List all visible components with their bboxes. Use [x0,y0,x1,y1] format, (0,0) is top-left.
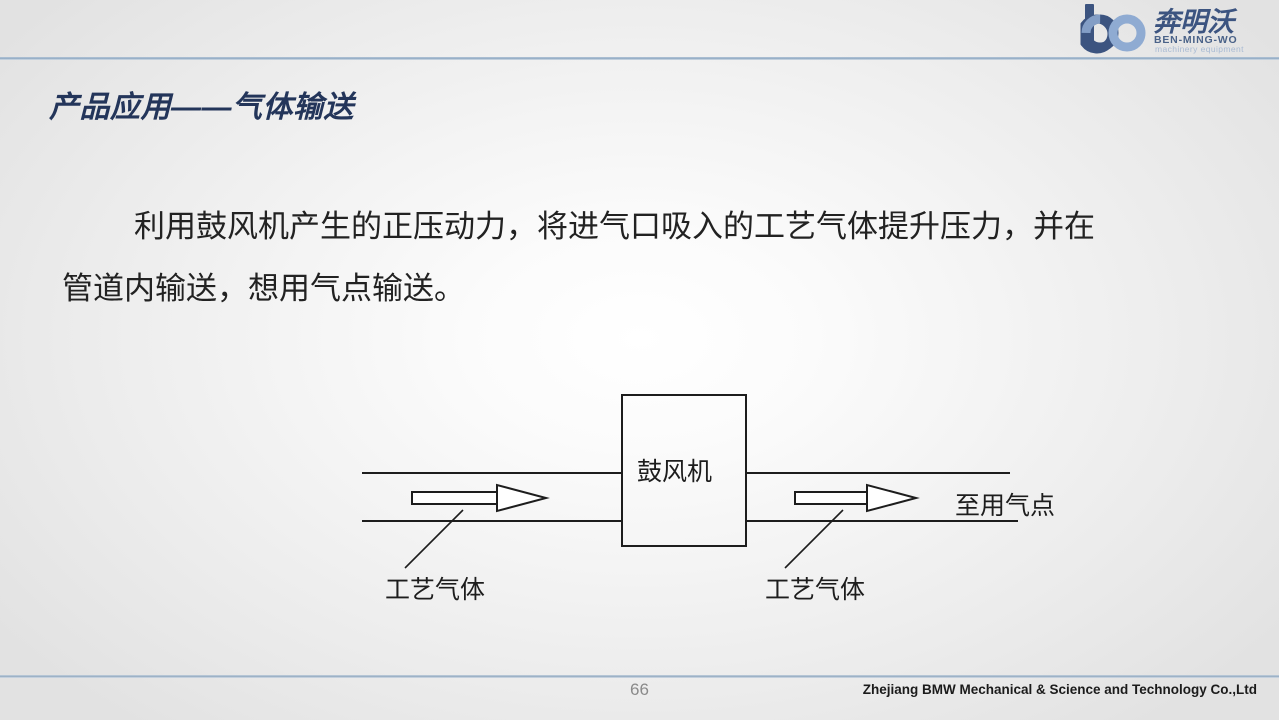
outlet-gas-label: 工艺气体 [765,570,865,606]
slide-canvas: 奔明沃 BEN-MING-WO machinery equipment 产品应用… [0,0,1279,720]
company-logo: 奔明沃 BEN-MING-WO machinery equipment [1079,2,1277,54]
outlet-flow-arrow-icon [795,485,916,511]
outlet-label-leader-line [785,510,843,568]
inlet-label-leader-line [405,510,463,568]
logo-chinese-name: 奔明沃 [1153,7,1238,37]
footer-divider [0,675,1279,678]
inlet-gas-label: 工艺气体 [385,570,485,606]
blower-label: 鼓风机 [637,452,712,488]
logo-svg: 奔明沃 BEN-MING-WO machinery equipment [1079,2,1277,54]
logo-bo-mark-icon [1085,4,1141,49]
page-title: 产品应用——气体输送 [49,82,354,126]
inlet-flow-arrow-icon [412,485,546,511]
logo-tagline: machinery equipment [1155,44,1244,54]
header-divider [0,57,1279,60]
body-paragraph: 利用鼓风机产生的正压动力，将进气口吸入的工艺气体提升压力，并在管道内输送，想用气… [62,196,1102,320]
footer-company-name: Zhejiang BMW Mechanical & Science and Te… [863,682,1257,697]
use-point-label: 至用气点 [955,486,1055,522]
gas-conveying-diagram [0,370,1279,620]
